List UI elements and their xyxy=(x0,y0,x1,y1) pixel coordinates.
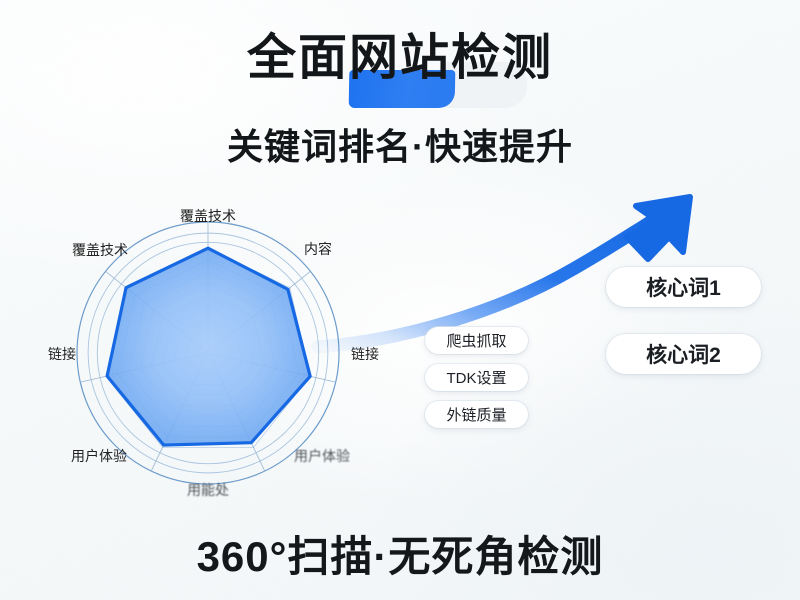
keyword-pill-1[interactable]: 核心词1 xyxy=(606,267,761,307)
feature-pill-2[interactable]: TDK设置 xyxy=(425,364,528,391)
page-subtitle: 关键词排名·快速提升 xyxy=(0,118,800,170)
arrow-head-icon xyxy=(627,197,690,259)
poster-canvas: 全面网站检测 关键词排名·快速提升 360°扫描·无死角检测 覆盖技术内容链接用… xyxy=(0,0,800,600)
footer-tagline: 360°扫描·无死角检测 xyxy=(0,523,800,584)
feature-pill-1[interactable]: 爬虫抓取 xyxy=(425,327,528,354)
page-title: 全面网站检测 xyxy=(0,34,800,83)
title-block: 全面网站检测 xyxy=(0,34,800,83)
keyword-pill-2[interactable]: 核心词2 xyxy=(606,334,761,374)
feature-pill-3[interactable]: 外链质量 xyxy=(425,401,528,428)
